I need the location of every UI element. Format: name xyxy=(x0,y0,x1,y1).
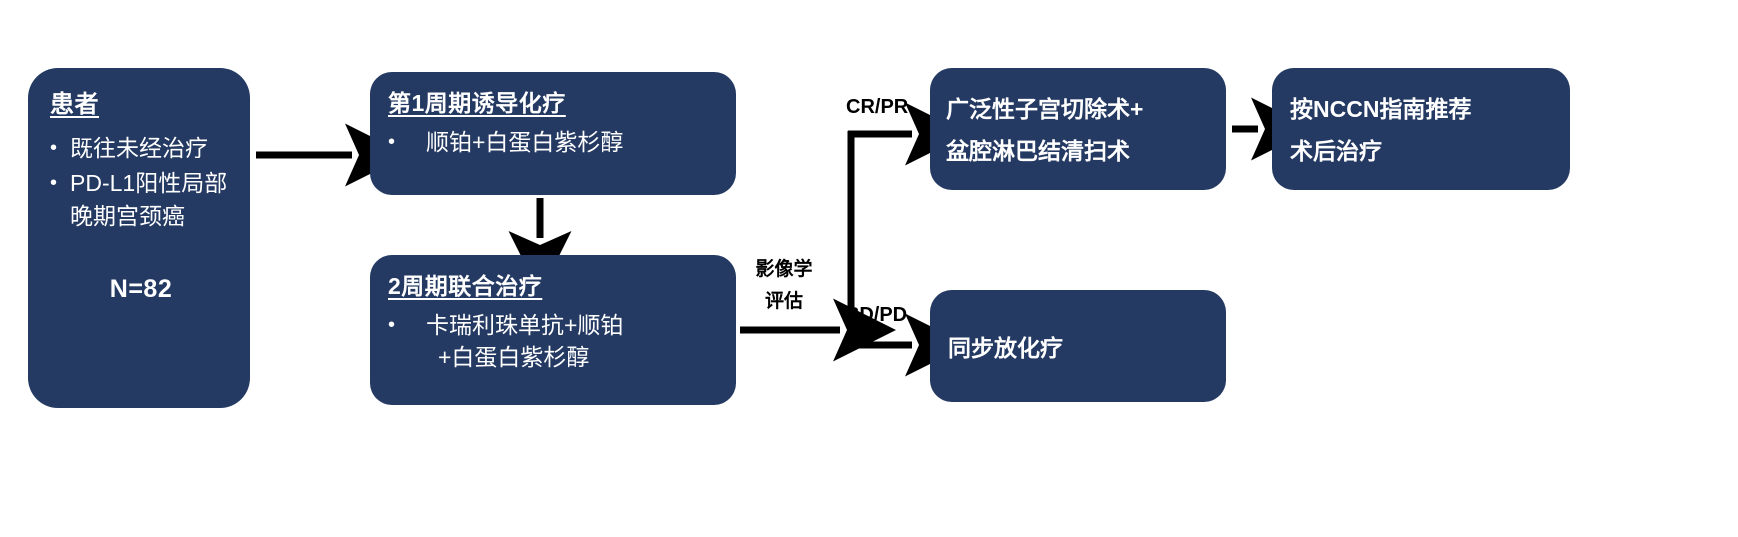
node-cycle1-bullet-1: • 顺铂+白蛋白紫杉醇 xyxy=(388,126,726,158)
node-nccn-line-2: 术后治疗 xyxy=(1290,130,1556,172)
node-surgery-line-2: 盆腔淋巴结清扫术 xyxy=(946,130,1212,172)
node-cycle1-title: 第1周期诱导化疗 xyxy=(388,88,726,118)
node-cycle2-title: 2周期联合治疗 xyxy=(388,271,726,301)
node-nccn-line-1: 按NCCN指南推荐 xyxy=(1290,88,1556,130)
node-cycle2-bullet-1-text: 卡瑞利珠单抗+顺铂 +白蛋白紫杉醇 xyxy=(426,309,726,373)
node-cycle1-bullet-1-text: 顺铂+白蛋白紫杉醇 xyxy=(426,126,726,158)
edge-label-crpr: CR/PR xyxy=(846,96,908,119)
bullet-marker-icon: • xyxy=(50,167,70,200)
node-patients-bullet-2-line-a: PD-L1阳性局部 xyxy=(70,170,227,196)
node-patients-bullet-1-text: 既往未经治疗 xyxy=(70,132,232,165)
edge-label-imaging-assessment: 影像学 评估 xyxy=(748,254,820,318)
flowchart-canvas: 患者 • 既往未经治疗 • PD-L1阳性局部 晚期宫颈癌 N=82 第1周期诱… xyxy=(0,0,1738,537)
node-patients-sample-size: N=82 xyxy=(50,275,232,304)
bullet-marker-icon: • xyxy=(388,126,426,158)
bullet-marker-icon: • xyxy=(388,309,426,341)
node-surgery-line-1: 广泛性子宫切除术+ xyxy=(946,88,1212,130)
node-patients-bullet-1: • 既往未经治疗 xyxy=(50,132,232,165)
node-radical-hysterectomy[interactable]: 广泛性子宫切除术+ 盆腔淋巴结清扫术 xyxy=(930,68,1226,190)
node-patients-bullet-2: • PD-L1阳性局部 晚期宫颈癌 xyxy=(50,167,232,233)
node-cycle2-combination-therapy[interactable]: 2周期联合治疗 • 卡瑞利珠单抗+顺铂 +白蛋白紫杉醇 xyxy=(370,255,736,405)
node-cycle2-bullet-1: • 卡瑞利珠单抗+顺铂 +白蛋白紫杉醇 xyxy=(388,309,726,373)
node-cycle1-induction-chemo[interactable]: 第1周期诱导化疗 • 顺铂+白蛋白紫杉醇 xyxy=(370,72,736,195)
node-ccrt-line-1: 同步放化疗 xyxy=(948,329,1063,363)
node-cycle2-bullet-line-1: 卡瑞利珠单抗+顺铂 xyxy=(426,312,623,338)
node-patients-title: 患者 xyxy=(50,90,232,120)
edge-label-imaging-line-2: 评估 xyxy=(748,286,820,318)
node-nccn-adjuvant-therapy[interactable]: 按NCCN指南推荐 术后治疗 xyxy=(1272,68,1570,190)
node-patients-bullet-2-text: PD-L1阳性局部 晚期宫颈癌 xyxy=(70,167,232,233)
node-cycle2-bullet-line-2: +白蛋白紫杉醇 xyxy=(438,344,589,370)
bullet-marker-icon: • xyxy=(50,132,70,165)
node-patients[interactable]: 患者 • 既往未经治疗 • PD-L1阳性局部 晚期宫颈癌 N=82 xyxy=(28,68,250,408)
node-patients-bullet-2-line-b: 晚期宫颈癌 xyxy=(70,203,185,229)
edge-label-imaging-line-1: 影像学 xyxy=(748,254,820,286)
node-concurrent-chemoradiotherapy[interactable]: 同步放化疗 xyxy=(930,290,1226,402)
edge-label-sdpd: SD/PD xyxy=(846,304,907,327)
